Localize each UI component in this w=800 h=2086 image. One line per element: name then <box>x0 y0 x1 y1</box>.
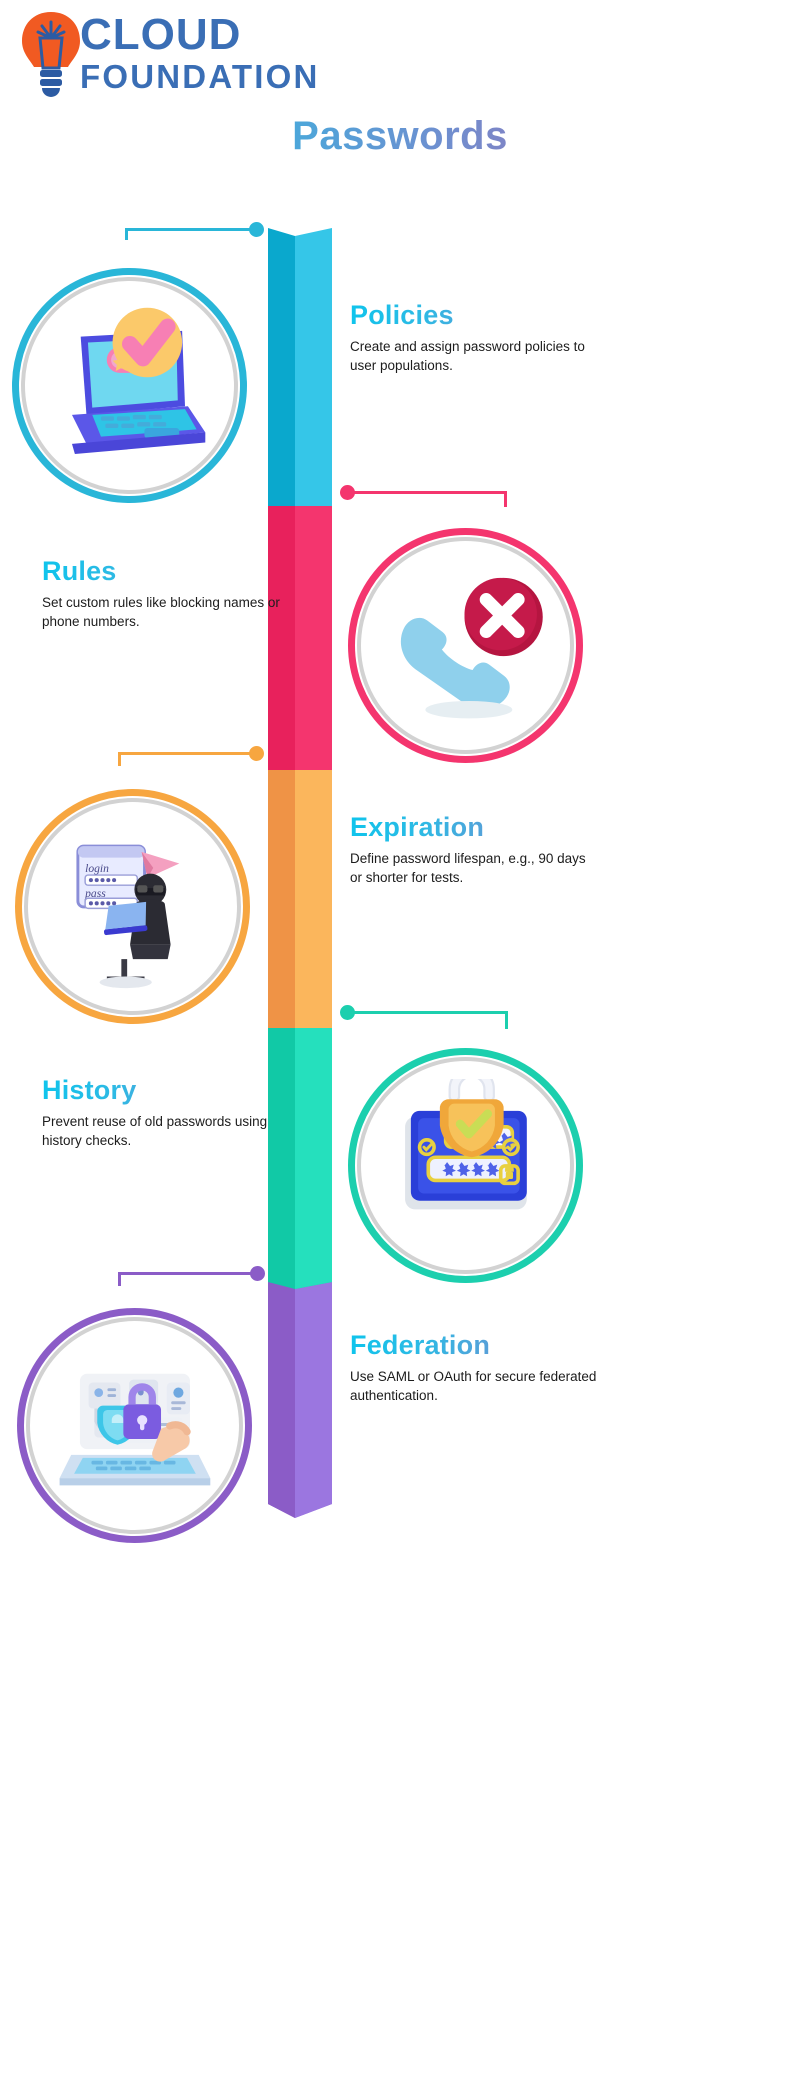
ribbon-bottom-notch <box>268 1504 332 1518</box>
section-body-rules-text: Set custom rules like blocking names or … <box>42 595 280 629</box>
logo-line-1: CLOUD <box>80 12 320 58</box>
page-title: Passwords <box>0 114 800 159</box>
ribbon-segment-rules <box>268 506 332 770</box>
brand-logo: CLOUD FOUNDATION <box>18 8 378 100</box>
section-history: History Prevent reuse of old passwords u… <box>42 1075 292 1150</box>
connector-history <box>332 1011 512 1025</box>
ribbon-segment-policies <box>268 244 332 506</box>
illustration-circle-policies <box>12 268 247 503</box>
section-heading-history: History <box>42 1075 292 1106</box>
section-body-policies: Create and assign password policies to u… <box>350 338 600 375</box>
phone-handset-blocked-icon <box>379 559 553 733</box>
section-heading-expiration: Expiration <box>350 812 600 843</box>
illustration-circle-history <box>348 1048 583 1283</box>
connector-expiration <box>118 752 273 766</box>
ribbon-segment-history <box>268 1028 332 1282</box>
illustration-circle-expiration: login pass <box>15 789 250 1024</box>
section-policies: Policies Create and assign password poli… <box>350 300 600 375</box>
section-body-history: Prevent reuse of old passwords using his… <box>42 1113 292 1150</box>
shield-padlock-password-icon <box>379 1079 553 1253</box>
ribbon-segment-federation <box>268 1296 332 1504</box>
connector-policies <box>125 228 270 240</box>
illustration-circle-rules <box>348 528 583 763</box>
section-rules: Rules Set custom rules like blocking nam… <box>42 556 292 631</box>
laptop-checkmark-stars-icon <box>43 299 217 473</box>
infographic-canvas: CLOUD FOUNDATION Passwords <box>0 0 800 2086</box>
ribbon-banner <box>268 228 332 1518</box>
lightbulb-icon <box>18 10 84 98</box>
connector-federation <box>118 1272 278 1286</box>
section-heading-rules: Rules <box>42 556 292 587</box>
section-body-expiration: Define password lifespan, e.g., 90 days … <box>350 850 600 887</box>
logo-line-2: FOUNDATION <box>80 58 320 96</box>
section-body-rules: Set custom rules like blocking names or … <box>42 594 292 631</box>
section-heading-policies: Policies <box>350 300 600 331</box>
section-body-federation: Use SAML or OAuth for secure federated a… <box>350 1368 600 1405</box>
illustration-circle-federation <box>17 1308 252 1543</box>
section-expiration: Expiration Define password lifespan, e.g… <box>350 812 600 887</box>
section-federation: Federation Use SAML or OAuth for secure … <box>350 1330 600 1405</box>
connector-rules <box>332 491 512 503</box>
svg-text:login: login <box>85 862 109 875</box>
laptop-identity-cards-icon <box>48 1339 222 1513</box>
ribbon-top-notch <box>268 228 332 244</box>
ribbon-segment-expiration <box>268 770 332 1028</box>
hacker-login-form-icon: login pass <box>46 820 220 994</box>
section-heading-federation: Federation <box>350 1330 600 1361</box>
